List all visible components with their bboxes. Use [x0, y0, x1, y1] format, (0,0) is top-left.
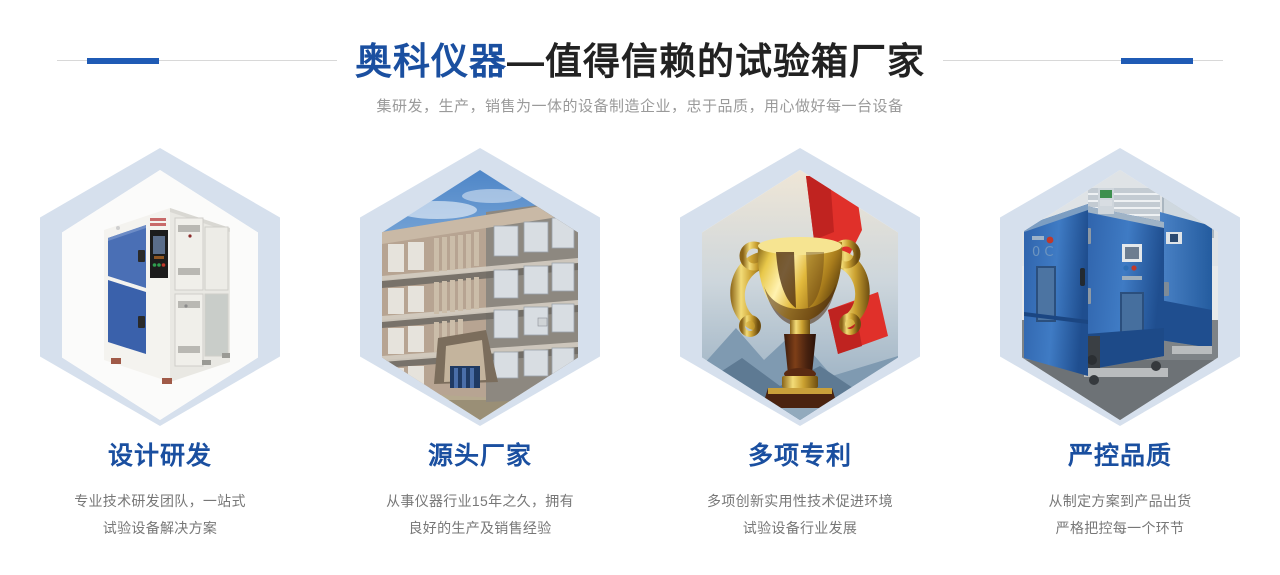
feature-card[interactable]: 多项专利 多项创新实用性技术促进环境 试验设备行业发展 — [640, 140, 960, 575]
feature-card[interactable]: 源头厂家 从事仪器行业15年之久，拥有 良好的生产及销售经验 — [320, 140, 640, 575]
factory-building-photo-icon — [382, 170, 578, 420]
feature-card-list: 设计研发 专业技术研发团队，一站式 试验设备解决方案 — [0, 140, 1280, 575]
title-row: 奥科仪器—值得信赖的试验箱厂家 — [0, 38, 1280, 84]
card-desc-line2: 严格把控每一个环节 — [960, 515, 1280, 542]
gold-trophy-photo-icon — [702, 170, 898, 420]
decorative-rule-right — [943, 58, 1223, 64]
test-chamber-photo-icon — [62, 170, 258, 420]
page-subtitle: 集研发，生产，销售为一体的设备制造企业，忠于品质，用心做好每一台设备 — [0, 96, 1280, 117]
card-desc-line1: 专业技术研发团队，一站式 — [74, 493, 246, 509]
card-title: 严控品质 — [960, 443, 1280, 471]
card-desc-line1: 从事仪器行业15年之久，拥有 — [386, 493, 574, 509]
card-title: 设计研发 — [0, 443, 320, 471]
decorative-rule-left — [57, 58, 337, 64]
title-tagline: 值得信赖的试验箱厂家 — [545, 41, 925, 82]
card-title: 多项专利 — [640, 443, 960, 471]
card-desc-line2: 良好的生产及销售经验 — [320, 515, 640, 542]
page-title: 奥科仪器—值得信赖的试验箱厂家 — [337, 43, 943, 80]
card-description: 从事仪器行业15年之久，拥有 良好的生产及销售经验 — [320, 488, 640, 542]
hexagon-frame — [40, 148, 280, 426]
card-desc-line1: 多项创新实用性技术促进环境 — [707, 493, 893, 509]
title-dash: — — [507, 41, 545, 82]
hexagon-frame — [680, 148, 920, 426]
card-description: 专业技术研发团队，一站式 试验设备解决方案 — [0, 488, 320, 542]
card-desc-line2: 试验设备行业发展 — [640, 515, 960, 542]
card-description: 多项创新实用性技术促进环境 试验设备行业发展 — [640, 488, 960, 542]
card-description: 从制定方案到产品出货 严格把控每一个环节 — [960, 488, 1280, 542]
blue-chambers-photo-icon: 0 C — [1022, 170, 1218, 420]
card-desc-line2: 试验设备解决方案 — [0, 515, 320, 542]
header: 奥科仪器—值得信赖的试验箱厂家 集研发，生产，销售为一体的设备制造企业，忠于品质… — [0, 0, 1280, 140]
feature-card[interactable]: 设计研发 专业技术研发团队，一站式 试验设备解决方案 — [0, 140, 320, 575]
brand-name: 奥科仪器 — [355, 41, 507, 82]
svg-text:0 C: 0 C — [1032, 245, 1053, 260]
feature-card[interactable]: 0 C 严控品质 从制定方案到产品出货 严格把控每一个环节 — [960, 140, 1280, 575]
rule-accent-left — [87, 58, 159, 64]
hexagon-frame — [360, 148, 600, 426]
promo-banner: 奥科仪器—值得信赖的试验箱厂家 集研发，生产，销售为一体的设备制造企业，忠于品质… — [0, 0, 1280, 575]
rule-accent-right — [1121, 58, 1193, 64]
card-desc-line1: 从制定方案到产品出货 — [1049, 493, 1192, 509]
hexagon-frame: 0 C — [1000, 148, 1240, 426]
card-title: 源头厂家 — [320, 443, 640, 471]
